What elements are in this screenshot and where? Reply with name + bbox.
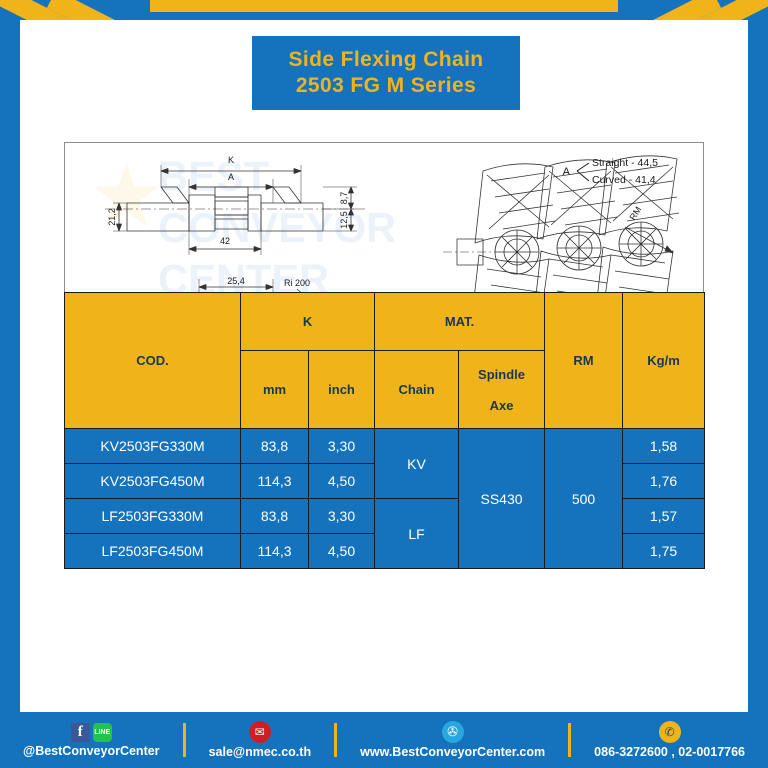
- cell-kgm: 1,57: [623, 499, 705, 534]
- dim-label-ri-200: Ri 200: [284, 278, 310, 288]
- callout-straight: Straight - 44,5: [592, 157, 658, 169]
- cell-chain-kv: KV: [375, 429, 459, 499]
- specification-table: COD. K MAT. RM Kg/m mm inch Chain Spindl…: [64, 292, 705, 569]
- corner-stripe-top-fill: [150, 0, 618, 12]
- title-line-1: Side Flexing Chain: [288, 48, 483, 72]
- table-row: KV2503FG330M 83,8 3,30 KV SS430 500 1,58: [65, 429, 705, 464]
- mail-icon: ✉: [249, 721, 271, 743]
- cell-mm: 83,8: [241, 499, 309, 534]
- cell-cod: KV2503FG330M: [65, 429, 241, 464]
- header-inch: inch: [309, 351, 375, 429]
- dim-label-rm: RM: [628, 205, 644, 222]
- social-icons: f LINE: [71, 723, 112, 742]
- dim-label-25-4: 25,4: [227, 276, 245, 286]
- dim-label-12-5: 12,5: [339, 211, 349, 229]
- header-mat: MAT.: [375, 293, 545, 351]
- cell-inch: 3,30: [309, 499, 375, 534]
- dim-label-8-7: 8,7: [339, 192, 349, 205]
- header-k: K: [241, 293, 375, 351]
- email-address: sale@nmec.co.th: [209, 745, 312, 759]
- cell-chain-lf: LF: [375, 499, 459, 569]
- facebook-handle: @BestConveyorCenter: [23, 744, 160, 758]
- header-spindle: Spindle: [478, 367, 525, 382]
- content-canvas: Side Flexing Chain 2503 FG M Series BEST…: [20, 20, 748, 712]
- cell-mm: 114,3: [241, 464, 309, 499]
- footer-email[interactable]: ✉ sale@nmec.co.th: [186, 712, 335, 768]
- table-header-row-1: COD. K MAT. RM Kg/m: [65, 293, 705, 351]
- facebook-icon[interactable]: f: [71, 723, 90, 742]
- header-cod: COD.: [65, 293, 241, 429]
- header-axe: Axe: [490, 398, 514, 413]
- header-kgm: Kg/m: [623, 293, 705, 429]
- header-spindle-axe: Spindle Axe: [459, 351, 545, 429]
- callout-curved: Curved - 41,4: [592, 174, 656, 186]
- callout-letter-a: A: [563, 166, 571, 178]
- cell-inch: 3,30: [309, 429, 375, 464]
- cell-rm: 500: [545, 429, 623, 569]
- globe-icon: ✇: [442, 721, 464, 743]
- cell-kgm: 1,75: [623, 534, 705, 569]
- cell-kgm: 1,76: [623, 464, 705, 499]
- cell-mm: 114,3: [241, 534, 309, 569]
- cell-cod: LF2503FG330M: [65, 499, 241, 534]
- footer-website[interactable]: ✇ www.BestConveyorCenter.com: [337, 712, 568, 768]
- dim-label-a: A: [228, 172, 234, 182]
- phone-icon: ✆: [659, 721, 681, 743]
- title-line-2: 2503 FG M Series: [296, 74, 476, 98]
- dim-label-21-2: 21,2: [107, 208, 117, 226]
- dim-label-k: K: [228, 155, 234, 165]
- phone-numbers: 086-3272600 , 02-0017766: [594, 745, 745, 759]
- dim-label-42: 42: [220, 236, 230, 246]
- poster-root: Side Flexing Chain 2503 FG M Series BEST…: [0, 0, 768, 768]
- footer-social[interactable]: f LINE @BestConveyorCenter: [0, 712, 183, 768]
- cell-spindle-axe: SS430: [459, 429, 545, 569]
- header-chain: Chain: [375, 351, 459, 429]
- cell-cod: KV2503FG450M: [65, 464, 241, 499]
- website-url: www.BestConveyorCenter.com: [360, 745, 545, 759]
- cell-inch: 4,50: [309, 534, 375, 569]
- header-mm: mm: [241, 351, 309, 429]
- title-banner: Side Flexing Chain 2503 FG M Series: [252, 36, 520, 110]
- line-icon[interactable]: LINE: [93, 723, 112, 742]
- cell-mm: 83,8: [241, 429, 309, 464]
- cell-kgm: 1,58: [623, 429, 705, 464]
- header-rm: RM: [545, 293, 623, 429]
- cell-cod: LF2503FG450M: [65, 534, 241, 569]
- contact-footer: f LINE @BestConveyorCenter ✉ sale@nmec.c…: [0, 712, 768, 768]
- footer-phone[interactable]: ✆ 086-3272600 , 02-0017766: [571, 712, 768, 768]
- cell-inch: 4,50: [309, 464, 375, 499]
